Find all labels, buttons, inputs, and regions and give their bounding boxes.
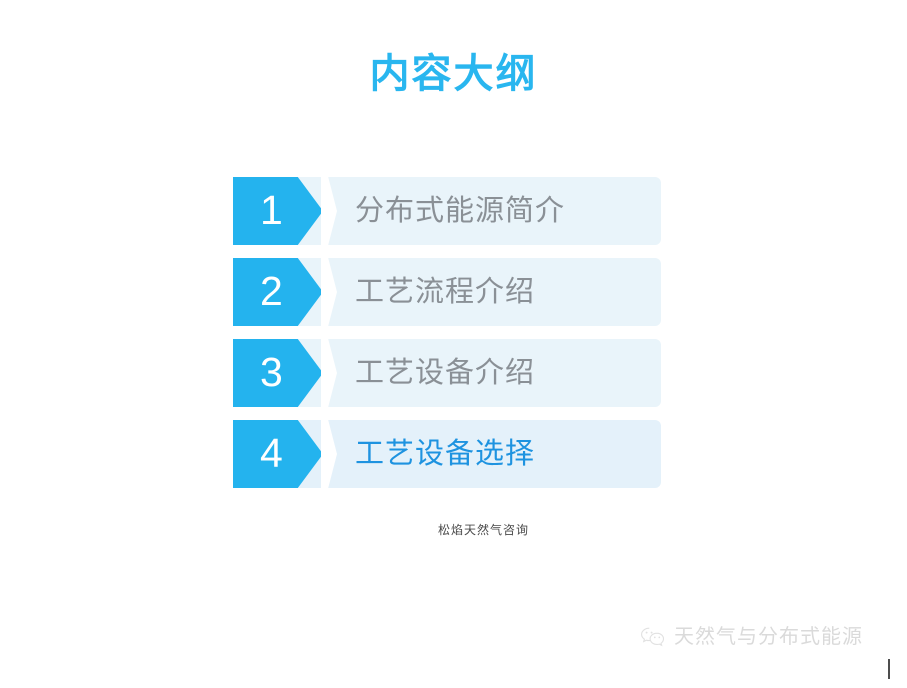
outline-number: 2 [260,271,283,312]
outline-number: 1 [260,190,283,231]
outline-item-label: 工艺设备选择 [337,420,535,488]
watermark-text: 天然气与分布式能源 [674,626,863,648]
wechat-icon [640,626,666,648]
outline-item-label: 分布式能源简介 [337,177,565,245]
outline-item-3[interactable]: 3 工艺设备介绍 [233,339,661,407]
text-caret [888,659,890,679]
page-title: 内容大纲 [0,48,907,100]
outline-item-label: 工艺流程介绍 [337,258,535,326]
watermark: 天然气与分布式能源 [640,626,863,648]
outline-item-4[interactable]: 4 工艺设备选择 [233,420,661,488]
footer-note: 松焰天然气咨询 [0,521,907,538]
outline-item-1[interactable]: 1 分布式能源简介 [233,177,661,245]
outline-number: 3 [260,352,283,393]
outline-list: 1 分布式能源简介 2 工艺流程介绍 3 工艺设备介绍 [233,177,661,488]
outline-item-label: 工艺设备介绍 [337,339,535,407]
outline-number: 4 [260,433,283,474]
slide-canvas: 内容大纲 1 分布式能源简介 2 工艺流程介绍 3 工 [0,0,907,688]
outline-item-2[interactable]: 2 工艺流程介绍 [233,258,661,326]
